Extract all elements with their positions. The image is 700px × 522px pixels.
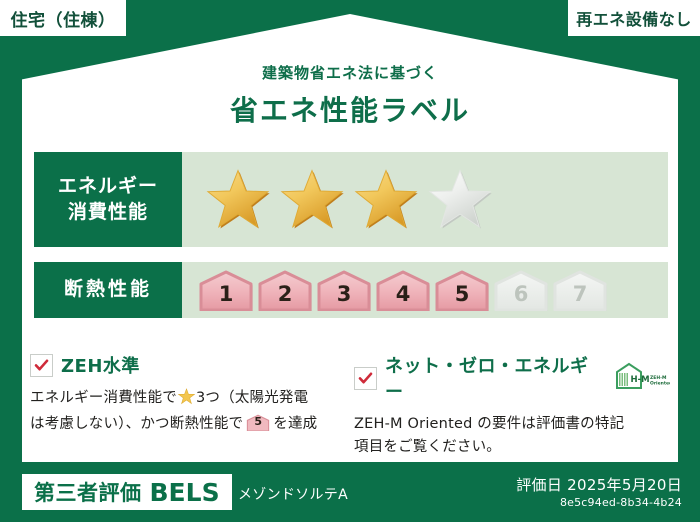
star-filled-icon xyxy=(280,168,344,232)
check-icon xyxy=(30,354,53,377)
insulation-level-number: 1 xyxy=(198,282,254,306)
svg-text:ZEH-M: ZEH-M xyxy=(650,375,667,381)
energy-label-line2: 消費性能 xyxy=(68,200,148,225)
evaluation-date: 評価日 2025年5月20日 xyxy=(516,474,682,495)
insulation-performance-label: 断熱性能 xyxy=(34,262,182,318)
page-title: 省エネ性能ラベル xyxy=(0,89,700,129)
star-rating xyxy=(206,168,492,232)
net-zero-energy-block: ネット・ゼロ・エネルギー H-M ZEH-M Oriented xyxy=(354,352,670,460)
bels-jp-label: 第三者評価 xyxy=(34,477,142,507)
inline-star-icon xyxy=(178,393,195,409)
insulation-level-active: 5 xyxy=(434,269,490,311)
insulation-level-number: 5 xyxy=(434,282,490,306)
insulation-level-active: 2 xyxy=(257,269,313,311)
net-zero-body: ZEH-M Oriented の要件は評価書の特記 項目をご覧ください。 xyxy=(354,413,670,460)
insulation-level-number: 4 xyxy=(375,282,431,306)
energy-performance-label: エネルギー 消費性能 xyxy=(34,152,182,247)
insulation-level-number: 7 xyxy=(552,282,608,306)
svg-text:Oriented: Oriented xyxy=(650,381,670,387)
renewable-equipment-tag: 再エネ設備なし xyxy=(566,0,700,38)
zeh-standard-block: ZEH水準 エネルギー消費性能で3つ（太陽光発電 は考慮しない）、かつ断熱性能で… xyxy=(30,352,340,460)
bels-plate: 第三者評価 BELS xyxy=(22,474,232,510)
insulation-level-inactive: 7 xyxy=(552,269,608,311)
insulation-performance-row: 断熱性能 1234567 xyxy=(34,262,668,318)
star-filled-icon xyxy=(354,168,418,232)
insulation-level-number: 2 xyxy=(257,282,313,306)
zeh-body-part3: は考慮しない）、かつ断熱性能で xyxy=(30,416,243,432)
insulation-level-inactive: 6 xyxy=(493,269,549,311)
evaluation-id: 8e5c94ed-8b34-4b24 xyxy=(560,496,682,509)
energy-performance-value xyxy=(182,152,668,247)
net-zero-body-line1: ZEH-M Oriented の要件は評価書の特記 xyxy=(354,416,624,432)
insulation-level-active: 4 xyxy=(375,269,431,311)
energy-label-line1: エネルギー xyxy=(58,174,158,199)
star-filled-icon xyxy=(206,168,270,232)
info-columns: ZEH水準 エネルギー消費性能で3つ（太陽光発電 は考慮しない）、かつ断熱性能で… xyxy=(30,352,670,460)
insulation-level-number: 6 xyxy=(493,282,549,306)
check-icon xyxy=(354,367,377,390)
zeh-standard-heading: ZEH水準 xyxy=(30,352,340,378)
title-subtitle: 建築物省エネ法に基づく xyxy=(0,62,700,83)
insulation-level-active: 1 xyxy=(198,269,254,311)
building-type-tag: 住宅（住棟） xyxy=(0,0,128,38)
building-name: メゾンドソルテA xyxy=(238,484,348,504)
net-zero-heading: ネット・ゼロ・エネルギー H-M ZEH-M Oriented xyxy=(354,352,670,404)
inline-house-icon: 5 xyxy=(245,414,271,431)
insulation-performance-value: 1234567 xyxy=(182,262,668,318)
zeh-standard-body: エネルギー消費性能で3つ（太陽光発電 は考慮しない）、かつ断熱性能で5を達成 xyxy=(30,387,340,437)
zeh-standard-title: ZEH水準 xyxy=(61,352,140,378)
zeh-m-oriented-logo: H-M ZEH-M Oriented xyxy=(614,362,670,394)
energy-performance-row: エネルギー 消費性能 xyxy=(34,152,668,247)
insulation-level-scale: 1234567 xyxy=(198,269,608,311)
star-empty-icon xyxy=(428,168,492,232)
zeh-body-part2: 3つ（太陽光発電 xyxy=(196,390,308,406)
zeh-body-part4: を達成 xyxy=(273,416,317,432)
energy-performance-label: 住宅（住棟） 再エネ設備なし 建築物省エネ法に基づく 省エネ性能ラベル エネルギ… xyxy=(0,0,700,522)
svg-text:H-M: H-M xyxy=(631,375,650,385)
insulation-level-number: 3 xyxy=(316,282,372,306)
title-block: 建築物省エネ法に基づく 省エネ性能ラベル xyxy=(0,62,700,129)
inline-house-number: 5 xyxy=(245,413,271,431)
bels-en-label: BELS xyxy=(150,478,220,507)
net-zero-title: ネット・ゼロ・エネルギー xyxy=(385,352,600,404)
zeh-body-part1: エネルギー消費性能で xyxy=(30,390,177,406)
net-zero-body-line2: 項目をご覧ください。 xyxy=(354,439,501,455)
footer-bar: 第三者評価 BELS メゾンドソルテA 評価日 2025年5月20日 8e5c9… xyxy=(0,462,700,522)
insulation-level-active: 3 xyxy=(316,269,372,311)
